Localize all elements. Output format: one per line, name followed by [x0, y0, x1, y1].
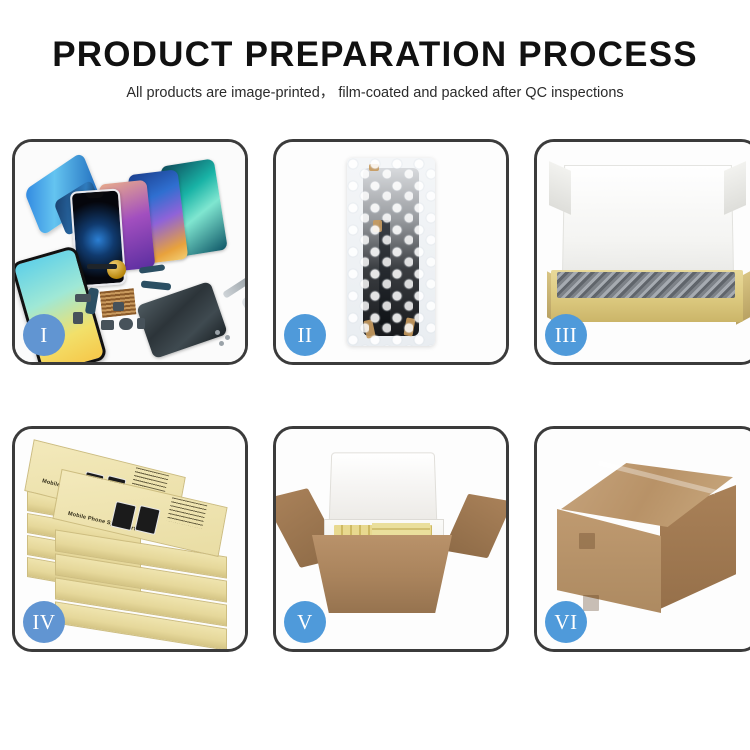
carton-front-face: [557, 509, 661, 613]
step-badge-5: V: [284, 601, 326, 643]
part-strip-1: [87, 264, 117, 269]
part-small-4: [137, 318, 145, 329]
page-title: PRODUCT PREPARATION PROCESS: [0, 34, 750, 76]
part-small-1: [75, 294, 91, 302]
process-step-panel-6[interactable]: VI: [534, 426, 750, 652]
carton-hand-hole-1: [579, 533, 595, 549]
step-badge-1: I: [23, 314, 65, 356]
part-speaker: [119, 318, 133, 330]
carton-flap-right: [443, 494, 506, 559]
box-lid-white: [562, 165, 734, 283]
box-lid-flap-left: [549, 161, 571, 215]
step-badge-2: II: [284, 314, 326, 356]
gold-component-icon: [107, 260, 126, 279]
carton-hand-hole-2: [583, 595, 599, 611]
bubble-wrap-texture: [347, 158, 435, 346]
screw-3: [219, 341, 224, 346]
process-step-panel-5[interactable]: V: [273, 426, 509, 652]
step-badge-4: IV: [23, 601, 65, 643]
bubble-wrap-package: [347, 158, 435, 346]
page-header: PRODUCT PREPARATION PROCESS All products…: [0, 0, 750, 102]
part-small-5: [113, 302, 124, 311]
foam-packing-material: [557, 272, 735, 298]
step-badge-6: VI: [545, 601, 587, 643]
foam-box-lid: [329, 452, 438, 523]
page-subtitle: All products are image-printed， film-coa…: [0, 84, 750, 102]
shipping-carton-open: [312, 535, 452, 613]
box-lid-flap-right: [724, 161, 746, 215]
screw-1: [215, 330, 220, 335]
part-small-3: [101, 320, 114, 330]
process-step-panel-4[interactable]: Mobile Phone Spare Parts Mobile Phone Sp…: [12, 426, 248, 652]
step-badge-3: III: [545, 314, 587, 356]
process-step-panel-2[interactable]: II: [273, 139, 509, 365]
screw-2: [225, 335, 230, 340]
process-step-panel-1[interactable]: I: [12, 139, 248, 365]
process-step-grid: I II III: [12, 139, 739, 652]
phone-notch-icon: [86, 191, 105, 198]
process-step-panel-3[interactable]: III: [534, 139, 750, 365]
part-small-2: [73, 312, 83, 324]
